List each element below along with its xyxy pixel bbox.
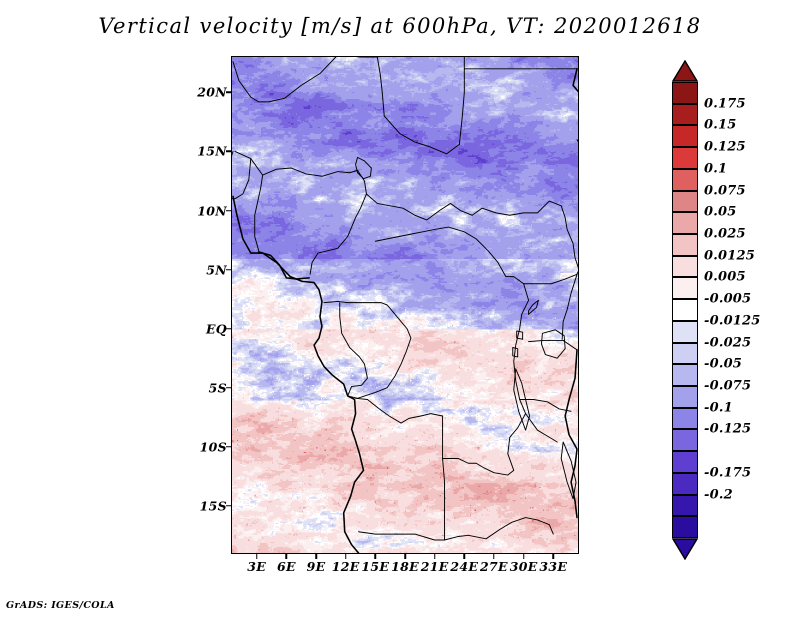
vertical-velocity-heatmap	[232, 57, 578, 553]
x-tick-label-21E: 21E	[421, 559, 449, 574]
colorbar-label: -0.125	[704, 422, 751, 437]
colorbar-label: -0.025	[704, 335, 751, 350]
colorbar-label: -0.2	[704, 487, 733, 502]
colorbar-label: -0.05	[704, 357, 742, 372]
colorbar-label: -0.075	[704, 379, 751, 394]
x-tick-label-27E: 27E	[480, 559, 508, 574]
y-tick-label-10N: 10N	[197, 203, 227, 218]
colorbar-segment	[672, 451, 698, 473]
colorbar-arrow-top	[672, 60, 698, 82]
y-tick-label-15S: 15S	[200, 498, 227, 513]
y-tick-label-20N: 20N	[197, 85, 227, 100]
colorbar-segment	[672, 169, 698, 191]
colorbar-segment	[672, 234, 698, 256]
colorbar-segment	[672, 212, 698, 234]
colorbar-segment	[672, 429, 698, 451]
y-tick-label-EQ: EQ	[206, 321, 227, 336]
map-plot-area: 20N15N10N5NEQ5S10S15S3E6E9E12E15E18E21E2…	[232, 57, 578, 553]
colorbar-segment	[672, 495, 698, 517]
grads-credit: GrADS: IGES/COLA	[6, 600, 115, 611]
colorbar-label: -0.005	[704, 292, 751, 307]
colorbar-segment	[672, 516, 698, 538]
colorbar: 0.1750.150.1250.10.0750.050.0250.01250.0…	[672, 60, 698, 560]
x-tick-label-15E: 15E	[361, 559, 389, 574]
colorbar-label: 0.0125	[704, 248, 755, 263]
colorbar-segment	[672, 343, 698, 365]
colorbar-segment	[672, 125, 698, 147]
x-tick-label-12E: 12E	[332, 559, 360, 574]
colorbar-segment	[672, 147, 698, 169]
x-tick-label-24E: 24E	[450, 559, 478, 574]
colorbar-label: 0.005	[704, 270, 746, 285]
colorbar-label: 0.15	[704, 118, 736, 133]
y-tick-label-5S: 5S	[209, 380, 227, 395]
colorbar-label: -0.0125	[704, 313, 761, 328]
colorbar-segment	[672, 277, 698, 299]
colorbar-segment	[672, 408, 698, 430]
colorbar-segment	[672, 321, 698, 343]
colorbar-segment	[672, 473, 698, 495]
x-tick-label-3E: 3E	[247, 559, 266, 574]
x-tick-label-9E: 9E	[307, 559, 326, 574]
colorbar-label: 0.025	[704, 227, 746, 242]
page-title: Vertical velocity [m/s] at 600hPa, VT: 2…	[0, 14, 800, 38]
colorbar-label: -0.1	[704, 400, 733, 415]
x-tick-label-33E: 33E	[539, 559, 567, 574]
colorbar-segment	[672, 299, 698, 321]
colorbar-segment	[672, 386, 698, 408]
y-tick-label-10S: 10S	[200, 439, 227, 454]
colorbar-label: 0.05	[704, 205, 736, 220]
x-tick-label-6E: 6E	[277, 559, 296, 574]
colorbar-segment	[672, 104, 698, 126]
colorbar-arrow-bottom	[672, 538, 698, 560]
y-tick-label-15N: 15N	[197, 144, 227, 159]
colorbar-label: 0.175	[704, 96, 746, 111]
colorbar-segment	[672, 191, 698, 213]
colorbar-segment	[672, 256, 698, 278]
colorbar-label: 0.125	[704, 140, 746, 155]
x-tick-label-30E: 30E	[510, 559, 538, 574]
colorbar-label: -0.175	[704, 465, 751, 480]
colorbar-segment	[672, 364, 698, 386]
colorbar-label: 0.075	[704, 183, 746, 198]
colorbar-label: 0.1	[704, 161, 727, 176]
colorbar-segment	[672, 82, 698, 104]
x-tick-label-18E: 18E	[391, 559, 419, 574]
y-tick-label-5N: 5N	[206, 262, 227, 277]
